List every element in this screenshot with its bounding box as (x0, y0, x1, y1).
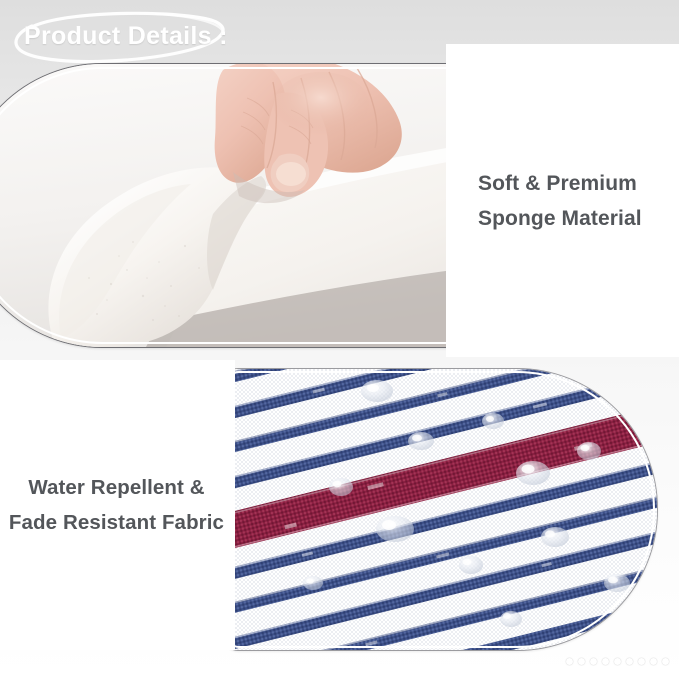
carousel-dot[interactable] (578, 658, 585, 665)
fabric-photo-panel (224, 368, 658, 651)
carousel-dot[interactable] (602, 658, 609, 665)
page-title-group: Product Details : (6, 8, 246, 66)
fabric-caption-line-2: Fade Resistant Fabric (9, 505, 224, 540)
carousel-dot[interactable] (614, 658, 621, 665)
page-title: Product Details : (24, 22, 228, 51)
carousel-dot[interactable] (650, 658, 657, 665)
carousel-dots[interactable] (566, 658, 669, 665)
carousel-dot[interactable] (662, 658, 669, 665)
sponge-caption-line-2: Sponge Material (478, 201, 642, 236)
sponge-caption-line-1: Soft & Premium (478, 166, 637, 201)
striped-fabric-photo (225, 369, 657, 650)
carousel-dot[interactable] (626, 658, 633, 665)
fabric-caption-card: Water Repellent & Fade Resistant Fabric (0, 360, 235, 650)
fabric-caption-line-1: Water Repellent & (28, 470, 204, 505)
carousel-dot[interactable] (638, 658, 645, 665)
sponge-photo (0, 64, 501, 347)
sponge-caption-card: Soft & Premium Sponge Material (446, 44, 679, 357)
sponge-photo-panel (0, 63, 502, 348)
product-details-image: Product Details : (0, 0, 679, 679)
carousel-dot[interactable] (566, 658, 573, 665)
carousel-dot[interactable] (590, 658, 597, 665)
